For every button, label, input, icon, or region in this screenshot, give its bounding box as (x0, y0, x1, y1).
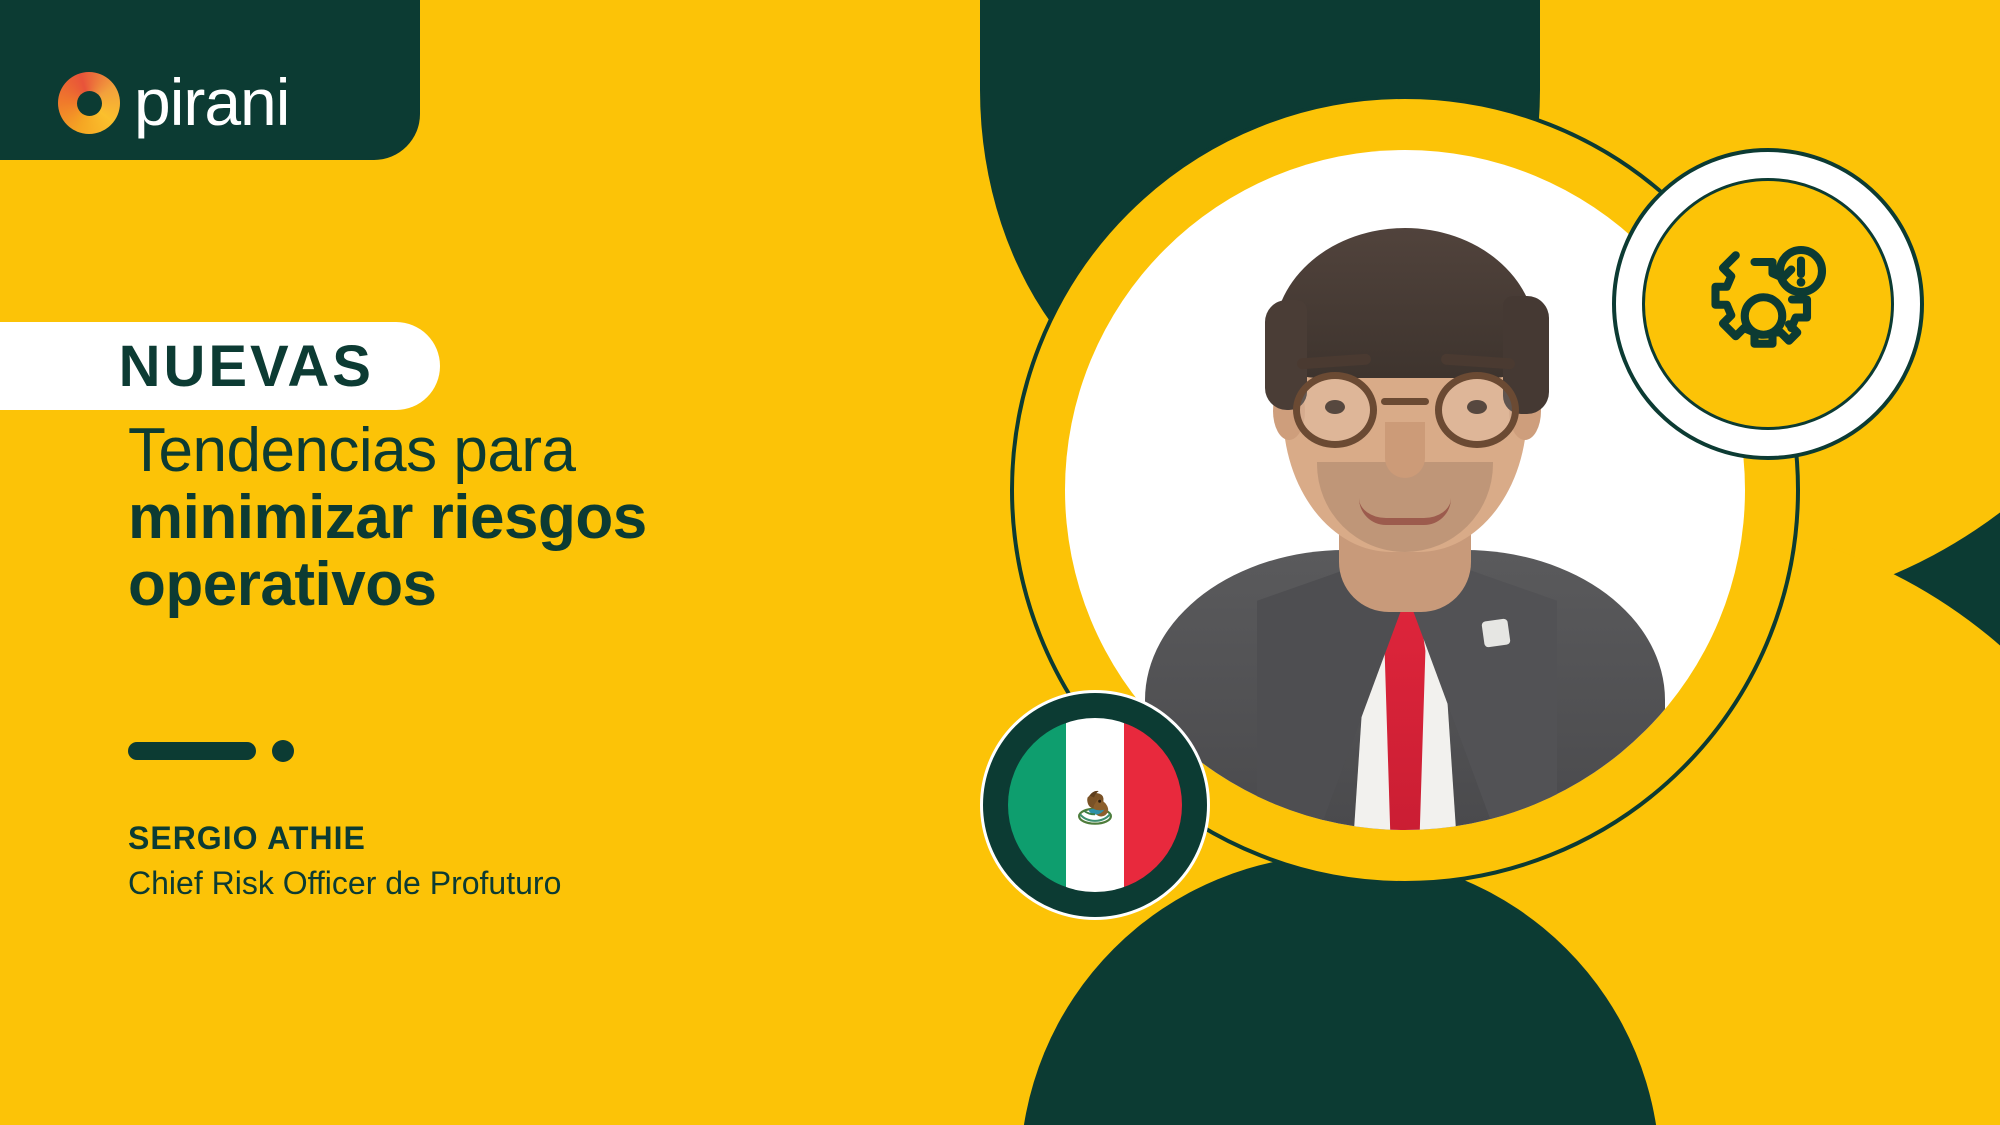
brand-logo-wordmark: pirani (134, 71, 289, 134)
portrait-lapel-pin (1481, 618, 1510, 647)
speaker-block: SERGIO ATHIE Chief Risk Officer de Profu… (128, 820, 561, 902)
headline-line-2: minimizar riesgos (128, 485, 948, 552)
promo-banner: pirani (0, 0, 2000, 1125)
divider (128, 740, 294, 762)
speaker-role: Chief Risk Officer de Profuturo (128, 865, 561, 902)
flag-stripe-green (1008, 718, 1066, 892)
portrait-hair (1274, 228, 1536, 378)
headline-line-3: operativos (128, 552, 948, 619)
mexico-coat-of-arms-icon (1067, 777, 1123, 833)
eyebrow-pill: NUEVAS (0, 322, 440, 410)
portrait-eyeglass-right (1435, 372, 1519, 448)
divider-dot (272, 740, 294, 762)
gear-alert-icon (1693, 229, 1843, 379)
pirani-ring-icon (58, 72, 120, 134)
mexico-flag-badge (980, 690, 1210, 920)
gear-alert-badge-inner (1642, 178, 1894, 430)
gear-alert-badge (1612, 148, 1924, 460)
portrait-eyeglass-bridge (1381, 398, 1429, 405)
portrait-eyeglass-left (1293, 372, 1377, 448)
speaker-name: SERGIO ATHIE (128, 820, 561, 857)
flag-stripe-red (1124, 718, 1182, 892)
portrait-nose (1385, 422, 1425, 478)
divider-dash (128, 742, 256, 760)
pirani-ring-hole (77, 91, 102, 116)
mexico-flag-icon (1008, 718, 1182, 892)
portrait-mouth (1359, 498, 1451, 525)
brand-logo-badge[interactable]: pirani (0, 0, 420, 160)
headline-line-1: Tendencias para (128, 418, 948, 485)
eyebrow-label: NUEVAS (119, 333, 374, 400)
headline-block: Tendencias para minimizar riesgos operat… (128, 418, 948, 619)
portrait-figure (1125, 150, 1685, 830)
